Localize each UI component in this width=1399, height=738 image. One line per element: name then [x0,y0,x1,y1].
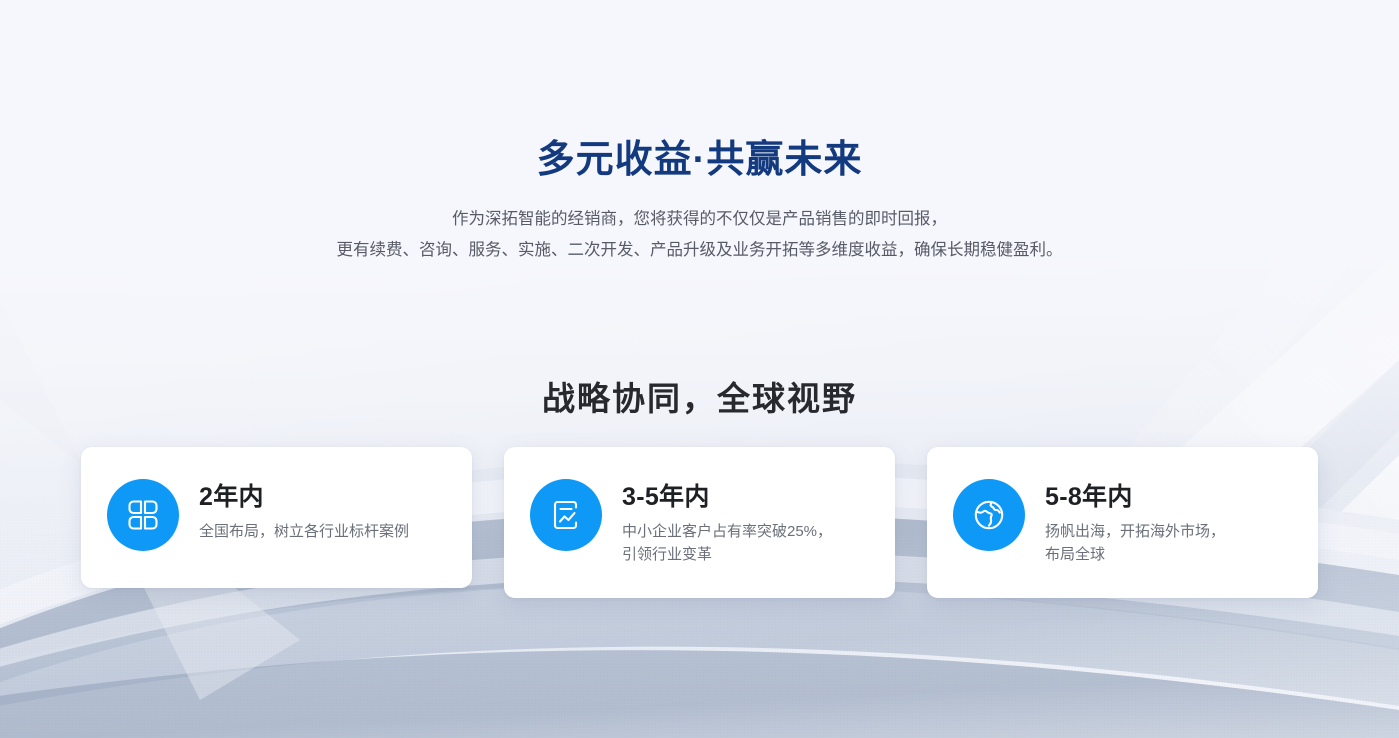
card-description: 全国布局，树立各行业标杆案例 [199,520,409,543]
icon-badge [530,479,602,551]
icon-badge [107,479,179,551]
globe-icon [969,495,1009,535]
promo-page: 多元收益·共赢未来 作为深拓智能的经销商，您将获得的不仅仅是产品销售的即时回报，… [0,0,1399,738]
card-body: 2年内 全国布局，树立各行业标杆案例 [199,479,409,543]
milestone-cards: 2年内 全国布局，树立各行业标杆案例 3-5年内 中小企业客户占有率突破25%，… [81,447,1318,598]
card-body: 3-5年内 中小企业客户占有率突破25%， 引领行业变革 [622,479,832,566]
card-title: 3-5年内 [622,483,832,513]
hero-subtitle: 作为深拓智能的经销商，您将获得的不仅仅是产品销售的即时回报， 更有续费、咨询、服… [0,204,1399,266]
card-description: 扬帆出海，开拓海外市场， 布局全球 [1045,520,1225,566]
icon-badge [953,479,1025,551]
report-chart-icon [547,496,585,534]
card-description: 中小企业客户占有率突破25%， 引领行业变革 [622,520,832,566]
section-heading: 战略协同，全球视野 [0,372,1399,420]
hero-subtitle-line-1: 作为深拓智能的经销商，您将获得的不仅仅是产品销售的即时回报， [0,204,1399,235]
milestone-card[interactable]: 5-8年内 扬帆出海，开拓海外市场， 布局全球 [927,447,1318,598]
grid-apps-icon [124,496,162,534]
hero-section: 多元收益·共赢未来 作为深拓智能的经销商，您将获得的不仅仅是产品销售的即时回报，… [0,138,1399,266]
page-title: 多元收益·共赢未来 [0,138,1399,184]
hero-subtitle-line-2: 更有续费、咨询、服务、实施、二次开发、产品升级及业务开拓等多维度收益，确保长期稳… [0,235,1399,266]
card-body: 5-8年内 扬帆出海，开拓海外市场， 布局全球 [1045,479,1225,566]
card-title: 5-8年内 [1045,483,1225,513]
card-title: 2年内 [199,483,409,513]
milestone-card[interactable]: 2年内 全国布局，树立各行业标杆案例 [81,447,472,588]
milestone-card[interactable]: 3-5年内 中小企业客户占有率突破25%， 引领行业变革 [504,447,895,598]
